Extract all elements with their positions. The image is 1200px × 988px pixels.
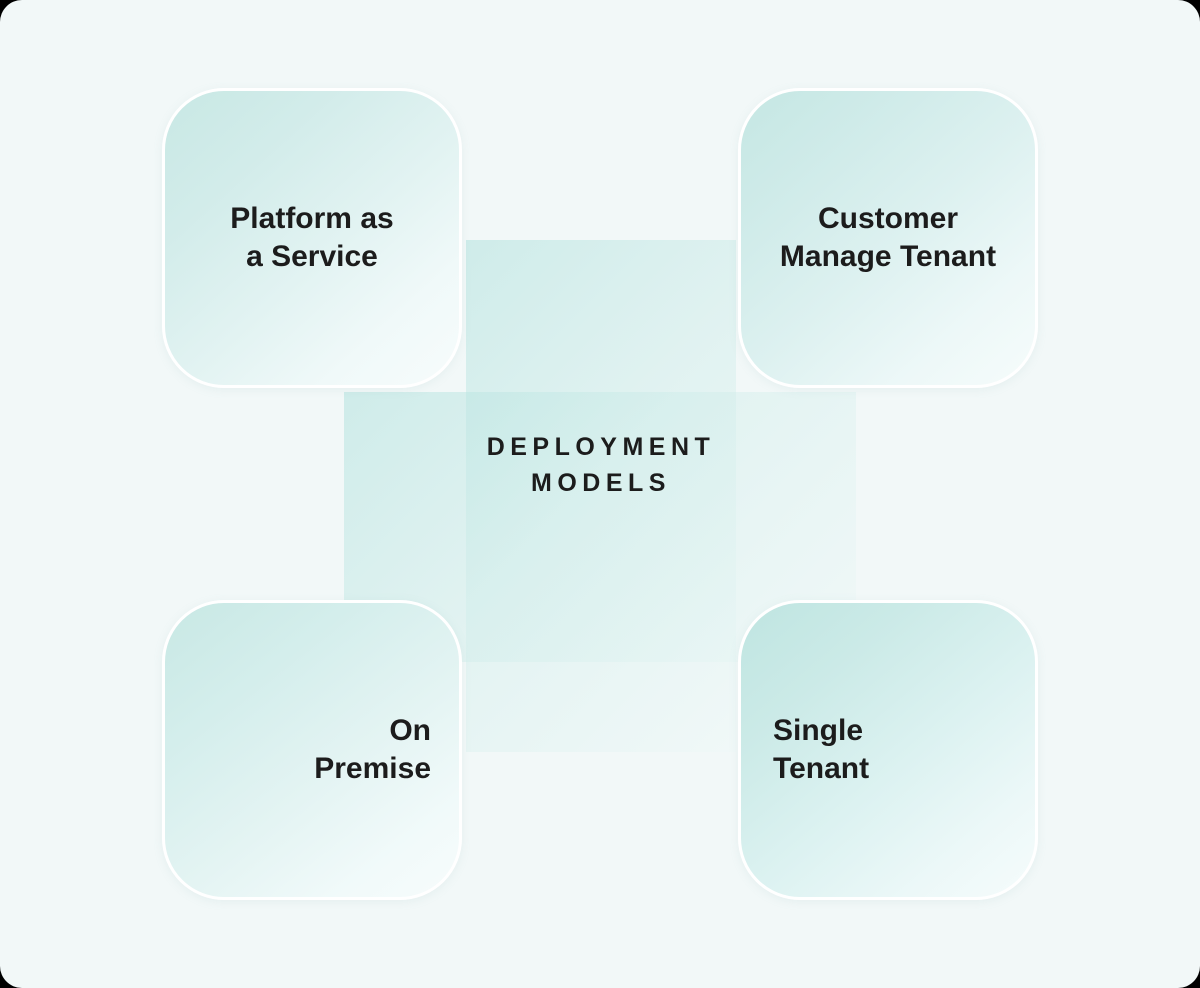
- card-on-premise[interactable]: On Premise: [162, 600, 462, 900]
- center-title-line-2: MODELS: [466, 466, 736, 502]
- deployment-models-diagram: DEPLOYMENT MODELS Platform as a Service …: [0, 0, 1200, 988]
- card-single-tenant-label: Single Tenant: [741, 712, 1035, 788]
- center-title: DEPLOYMENT MODELS: [466, 430, 736, 501]
- card-platform-as-a-service[interactable]: Platform as a Service: [162, 88, 462, 388]
- card-customer-manage-tenant[interactable]: Customer Manage Tenant: [738, 88, 1038, 388]
- card-single-tenant[interactable]: Single Tenant: [738, 600, 1038, 900]
- card-customer-manage-tenant-label: Customer Manage Tenant: [762, 200, 1014, 276]
- center-title-line-1: DEPLOYMENT: [466, 430, 736, 466]
- card-on-premise-label: On Premise: [165, 712, 459, 788]
- card-platform-as-a-service-label: Platform as a Service: [212, 200, 411, 276]
